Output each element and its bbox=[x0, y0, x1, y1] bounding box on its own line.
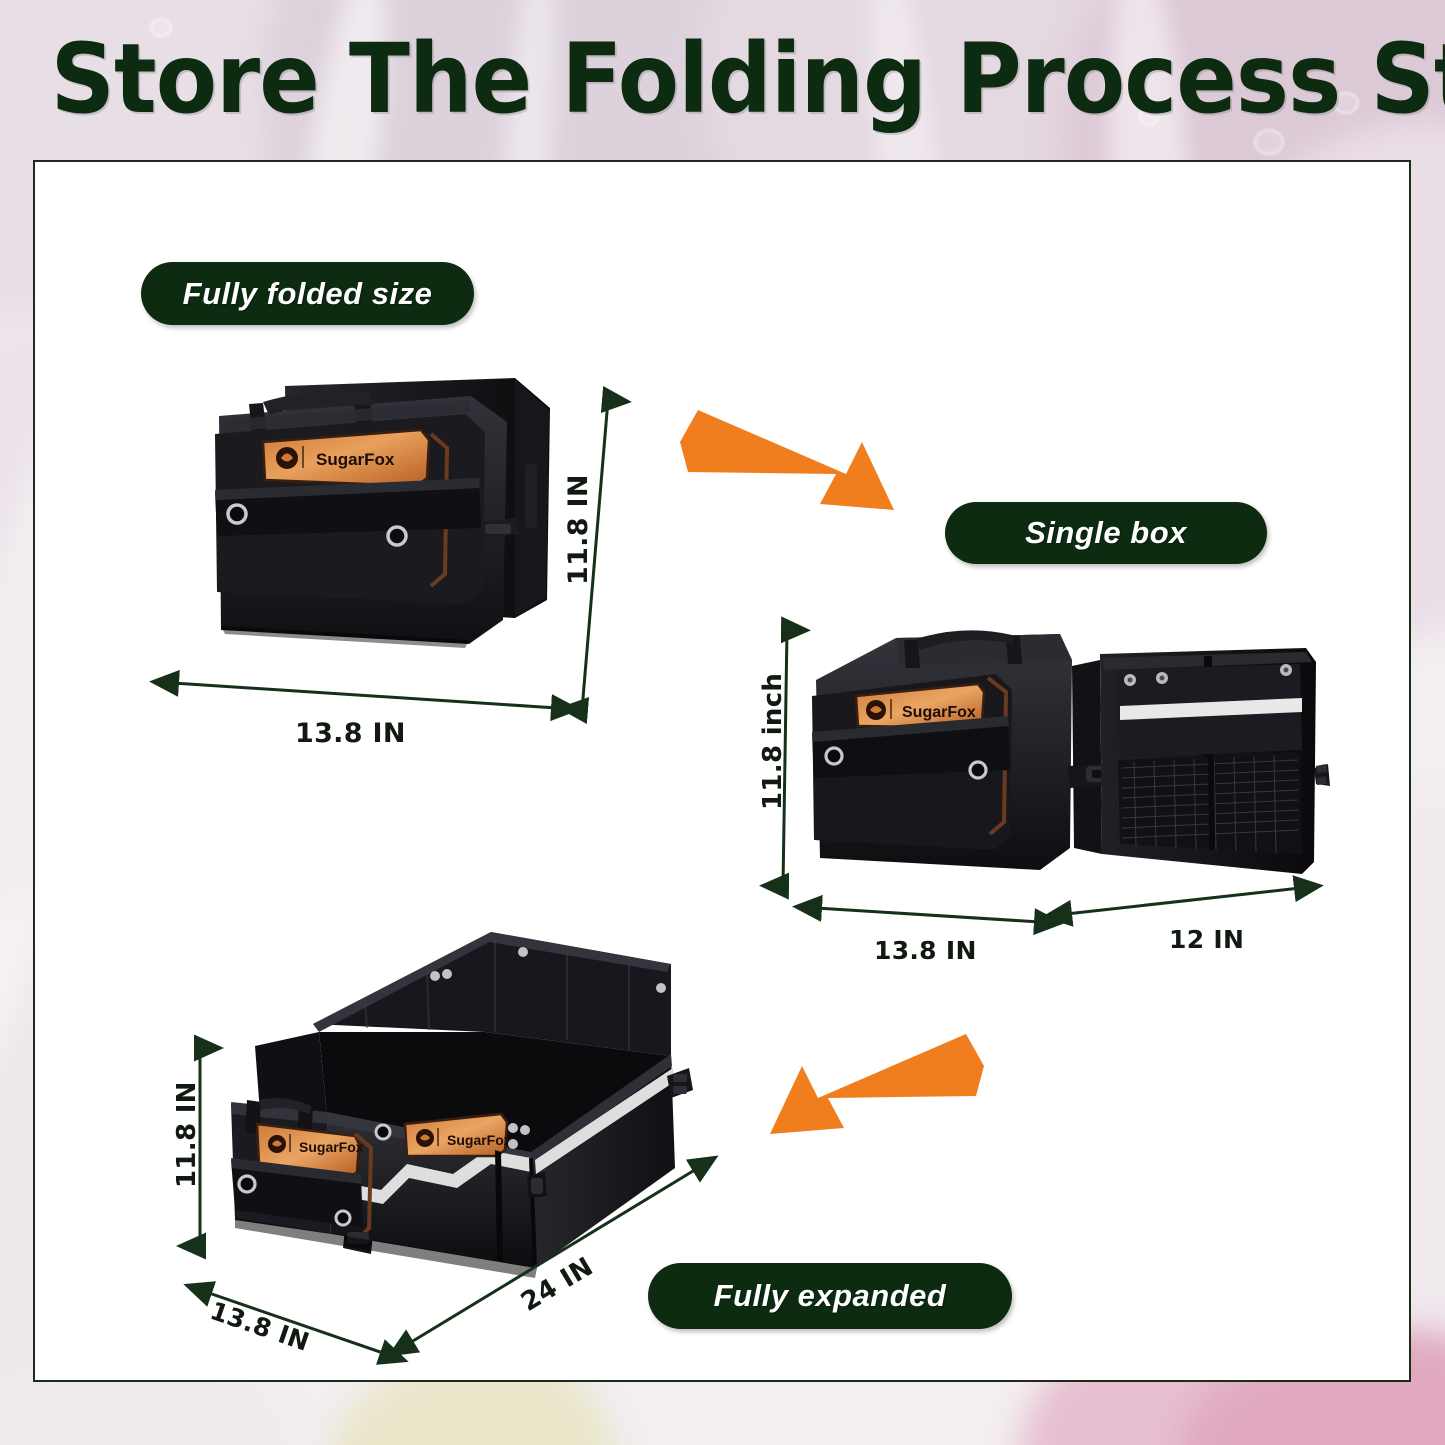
infographic-root: Store The Folding Process Status Fully f… bbox=[0, 0, 1445, 1445]
fox-logo-icon bbox=[268, 1135, 286, 1153]
dimension-arrow-single-depth bbox=[1058, 880, 1308, 922]
fox-logo-icon bbox=[276, 447, 298, 469]
label-fully-expanded-text: Fully expanded bbox=[714, 1278, 947, 1314]
arrow-folded-to-single bbox=[674, 398, 900, 518]
dimension-expanded-height: 11.8 IN bbox=[172, 1081, 202, 1188]
product-fully-folded: SugarFox bbox=[185, 368, 605, 688]
svg-text:SugarFox: SugarFox bbox=[902, 704, 976, 721]
svg-text:SugarFox: SugarFox bbox=[299, 1139, 364, 1155]
label-single-box-text: Single box bbox=[1025, 515, 1187, 551]
label-fully-expanded: Fully expanded bbox=[648, 1263, 1012, 1329]
label-single-box: Single box bbox=[945, 502, 1267, 564]
dimension-single-height: 11.8 inch bbox=[758, 673, 788, 810]
dimension-folded-width: 13.8 IN bbox=[295, 718, 406, 749]
arrow-single-to-expanded bbox=[764, 1022, 990, 1142]
svg-text:SugarFox: SugarFox bbox=[447, 1132, 512, 1148]
dimension-arrow-folded-width bbox=[165, 675, 565, 715]
svg-text:SugarFox: SugarFox bbox=[316, 450, 395, 469]
dimension-single-depth: 12 IN bbox=[1169, 925, 1244, 954]
dimension-arrow-expanded-length bbox=[398, 1158, 708, 1354]
fox-logo-icon bbox=[416, 1129, 434, 1147]
fox-logo-icon bbox=[866, 700, 886, 720]
product-single-box: SugarFox bbox=[800, 618, 1330, 908]
label-fully-folded-text: Fully folded size bbox=[183, 276, 433, 312]
label-fully-folded: Fully folded size bbox=[141, 262, 474, 325]
dimension-single-width: 13.8 IN bbox=[874, 936, 977, 965]
page-title: Store The Folding Process Status bbox=[51, 30, 1395, 130]
dimension-arrow-single-width bbox=[808, 900, 1048, 932]
dimension-folded-height: 11.8 IN bbox=[563, 474, 594, 585]
